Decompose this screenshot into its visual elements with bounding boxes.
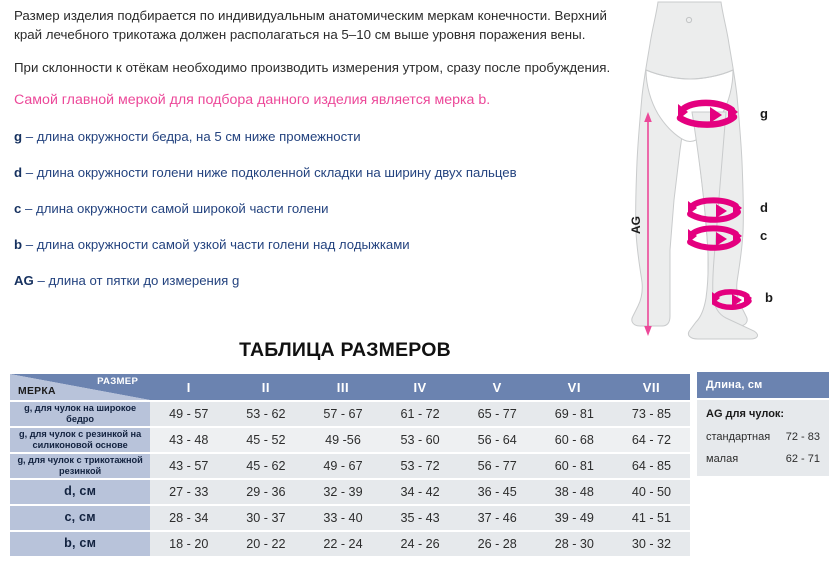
table-cell: 43 - 48 — [150, 428, 227, 452]
table-cell: 40 - 50 — [613, 480, 690, 504]
table-row: g, для чулок с трикотажной резинкой 43 -… — [10, 454, 690, 478]
table-cell: 30 - 32 — [613, 532, 690, 556]
column-header-3: III — [304, 374, 381, 400]
table-cell: 56 - 77 — [459, 454, 536, 478]
length-row-standard-value: 72 - 83 — [786, 431, 820, 443]
column-header-2: II — [227, 374, 304, 400]
definition-key-b: b — [14, 237, 22, 252]
table-cell: 49 -56 — [304, 428, 381, 452]
table-row: g, для чулок с резинкой на силиконовой о… — [10, 428, 690, 452]
b-label: b — [765, 290, 773, 305]
row-label: g, для чулок с трикотажной резинкой — [10, 454, 150, 478]
table-cell: 34 - 42 — [382, 480, 459, 504]
highlight-note: Самой главной меркой для подбора данного… — [14, 91, 614, 110]
table-cell: 30 - 37 — [227, 506, 304, 530]
table-cell: 32 - 39 — [304, 480, 381, 504]
table-cell: 56 - 64 — [459, 428, 536, 452]
row-label: d, см — [10, 480, 150, 504]
definition-text-ag: – длина от пятки до измерения g — [37, 273, 239, 288]
table-cell: 45 - 62 — [227, 454, 304, 478]
table-cell: 29 - 36 — [227, 480, 304, 504]
table-cell: 53 - 60 — [382, 428, 459, 452]
definition-g: g – длина окружности бедра, на 5 см ниже… — [14, 128, 614, 146]
instructions-section: Размер изделия подбирается по индивидуал… — [0, 0, 836, 335]
length-panel-body: AG для чулок: стандартная 72 - 83 малая … — [697, 400, 829, 476]
table-cell: 37 - 46 — [459, 506, 536, 530]
c-label: c — [760, 228, 767, 243]
column-header-4: IV — [382, 374, 459, 400]
table-cell: 65 - 77 — [459, 402, 536, 426]
length-row-standard: стандартная 72 - 83 — [706, 431, 820, 443]
table-cell: 69 - 81 — [536, 402, 613, 426]
table-cell: 20 - 22 — [227, 532, 304, 556]
ag-label: AG — [629, 216, 643, 234]
table-cell: 43 - 57 — [150, 454, 227, 478]
table-cell: 64 - 85 — [613, 454, 690, 478]
definition-text-g: – длина окружности бедра, на 5 см ниже п… — [26, 129, 361, 144]
d-label: d — [760, 200, 768, 215]
definition-ag: AG – длина от пятки до измерения g — [14, 272, 614, 290]
definition-text-d: – длина окружности голени ниже подколенн… — [26, 165, 517, 180]
table-cell: 33 - 40 — [304, 506, 381, 530]
length-row-standard-name: стандартная — [706, 431, 770, 443]
table-cell: 38 - 48 — [536, 480, 613, 504]
definition-b: b – длина окружности самой узкой части г… — [14, 236, 614, 254]
table-cell: 28 - 34 — [150, 506, 227, 530]
table-cell: 57 - 67 — [304, 402, 381, 426]
size-table: РАЗМЕР МЕРКА I II III IV V VI VII g, для… — [10, 372, 690, 558]
table-row: c, см 28 - 34 30 - 37 33 - 40 35 - 43 37… — [10, 506, 690, 530]
row-label: g, для чулок на широкое бедро — [10, 402, 150, 426]
column-header-6: VI — [536, 374, 613, 400]
row-label: b, см — [10, 532, 150, 556]
table-cell: 73 - 85 — [613, 402, 690, 426]
table-cell: 26 - 28 — [459, 532, 536, 556]
corner-merka-label: МЕРКА — [18, 386, 56, 397]
table-cell: 18 - 20 — [150, 532, 227, 556]
table-cell: 49 - 57 — [150, 402, 227, 426]
definition-c: c – длина окружности самой широкой части… — [14, 200, 614, 218]
intro-paragraph-1: Размер изделия подбирается по индивидуал… — [14, 6, 614, 44]
table-row: b, см 18 - 20 20 - 22 22 - 24 24 - 26 26… — [10, 532, 690, 556]
length-panel-header: Длина, см — [697, 372, 829, 398]
table-cell: 22 - 24 — [304, 532, 381, 556]
table-cell: 24 - 26 — [382, 532, 459, 556]
instruction-text-column: Размер изделия подбирается по индивидуал… — [14, 6, 614, 308]
table-cell: 36 - 45 — [459, 480, 536, 504]
row-label: g, для чулок с резинкой на силиконовой о… — [10, 428, 150, 452]
column-header-1: I — [150, 374, 227, 400]
table-cell: 64 - 72 — [613, 428, 690, 452]
leg-measurement-diagram: AG g d — [600, 0, 836, 340]
g-label: g — [760, 106, 768, 121]
definition-key-g: g — [14, 129, 22, 144]
body-silhouette — [632, 2, 758, 339]
length-panel: Длина, см AG для чулок: стандартная 72 -… — [697, 372, 829, 476]
length-row-small-name: малая — [706, 453, 738, 465]
definition-text-b: – длина окружности самой узкой части гол… — [26, 237, 410, 252]
table-cell: 61 - 72 — [382, 402, 459, 426]
table-cell: 39 - 49 — [536, 506, 613, 530]
table-cell: 49 - 67 — [304, 454, 381, 478]
table-corner-header: РАЗМЕР МЕРКА — [10, 374, 150, 400]
definition-key-d: d — [14, 165, 22, 180]
intro-paragraph-2: При склонности к отёкам необходимо произ… — [14, 58, 614, 77]
table-cell: 60 - 81 — [536, 454, 613, 478]
definition-key-ag: AG — [14, 273, 34, 288]
table-cell: 53 - 72 — [382, 454, 459, 478]
table-row: g, для чулок на широкое бедро 49 - 57 53… — [10, 402, 690, 426]
page-title: ТАБЛИЦА РАЗМЕРОВ — [0, 339, 690, 362]
length-row-small: малая 62 - 71 — [706, 453, 820, 465]
column-header-5: V — [459, 374, 536, 400]
row-label: c, см — [10, 506, 150, 530]
definition-text-c: – длина окружности самой широкой части г… — [25, 201, 329, 216]
column-header-7: VII — [613, 374, 690, 400]
table-cell: 45 - 52 — [227, 428, 304, 452]
corner-size-label: РАЗМЕР — [97, 376, 138, 387]
table-row: d, см 27 - 33 29 - 36 32 - 39 34 - 42 36… — [10, 480, 690, 504]
table-cell: 60 - 68 — [536, 428, 613, 452]
table-cell: 53 - 62 — [227, 402, 304, 426]
length-row-small-value: 62 - 71 — [786, 453, 820, 465]
table-cell: 35 - 43 — [382, 506, 459, 530]
length-panel-title: AG для чулок: — [706, 408, 820, 420]
table-cell: 27 - 33 — [150, 480, 227, 504]
table-header-row: РАЗМЕР МЕРКА I II III IV V VI VII — [10, 374, 690, 400]
table-cell: 41 - 51 — [613, 506, 690, 530]
table-cell: 28 - 30 — [536, 532, 613, 556]
definition-d: d – длина окружности голени ниже подколе… — [14, 164, 614, 182]
definition-key-c: c — [14, 201, 21, 216]
